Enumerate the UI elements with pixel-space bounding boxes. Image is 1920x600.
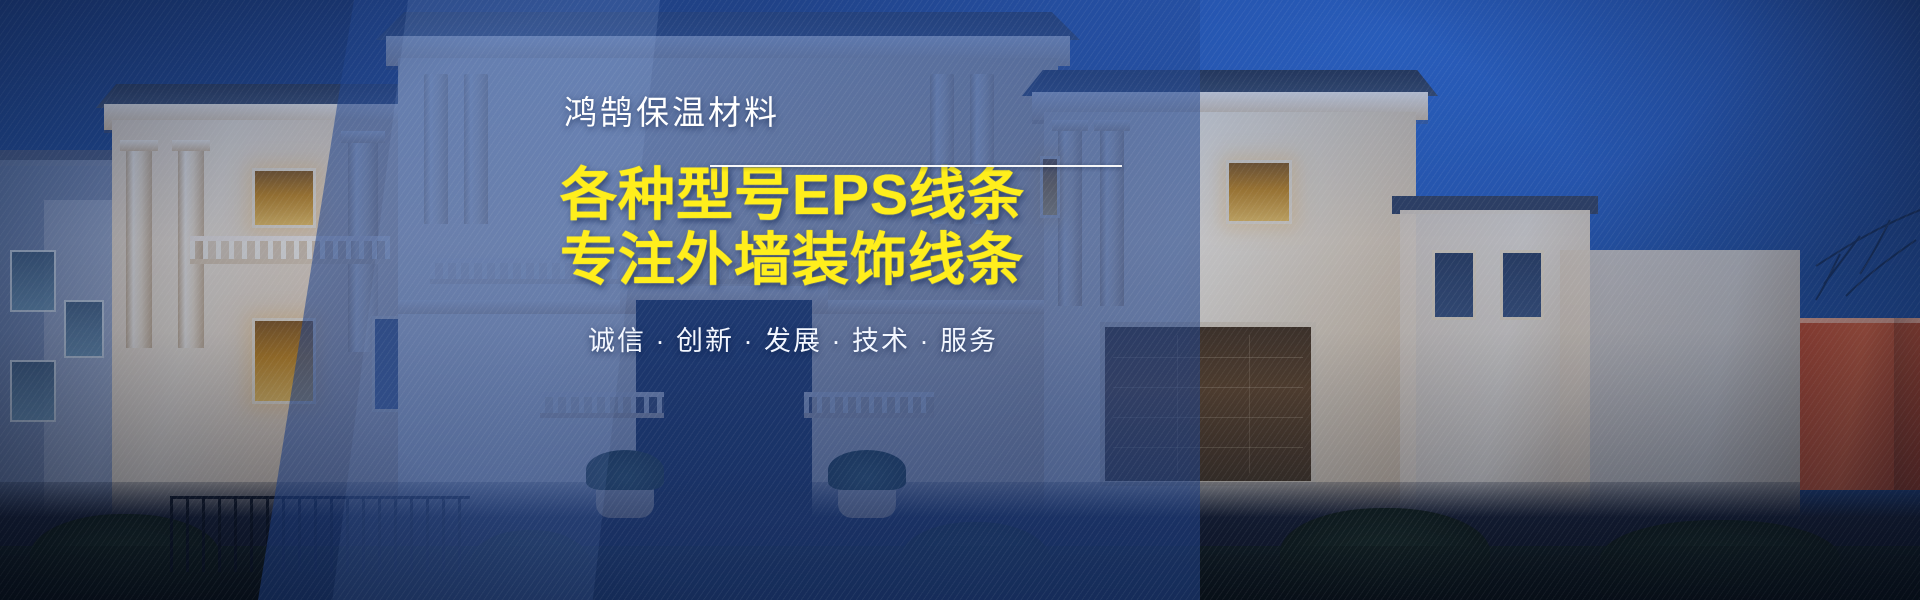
banner-copy: 鸿鹄保温材料 各种型号EPS线条 专注外墙装饰线条 诚信 · 创新 · 发展 ·… <box>560 96 1200 396</box>
headline-line-2: 专注外墙装饰线条 <box>560 228 1200 293</box>
hero-banner: 鸿鹄保温材料 各种型号EPS线条 专注外墙装饰线条 诚信 · 创新 · 发展 ·… <box>0 0 1920 600</box>
headline-group: 各种型号EPS线条 专注外墙装饰线条 <box>560 163 1200 293</box>
title-divider <box>710 165 1122 167</box>
brand-subtitle: 鸿鹄保温材料 <box>560 96 1200 129</box>
slogan: 诚信 · 创新 · 发展 · 技术 · 服务 <box>560 319 1200 358</box>
headline-line-1: 各种型号EPS线条 <box>560 163 1200 228</box>
